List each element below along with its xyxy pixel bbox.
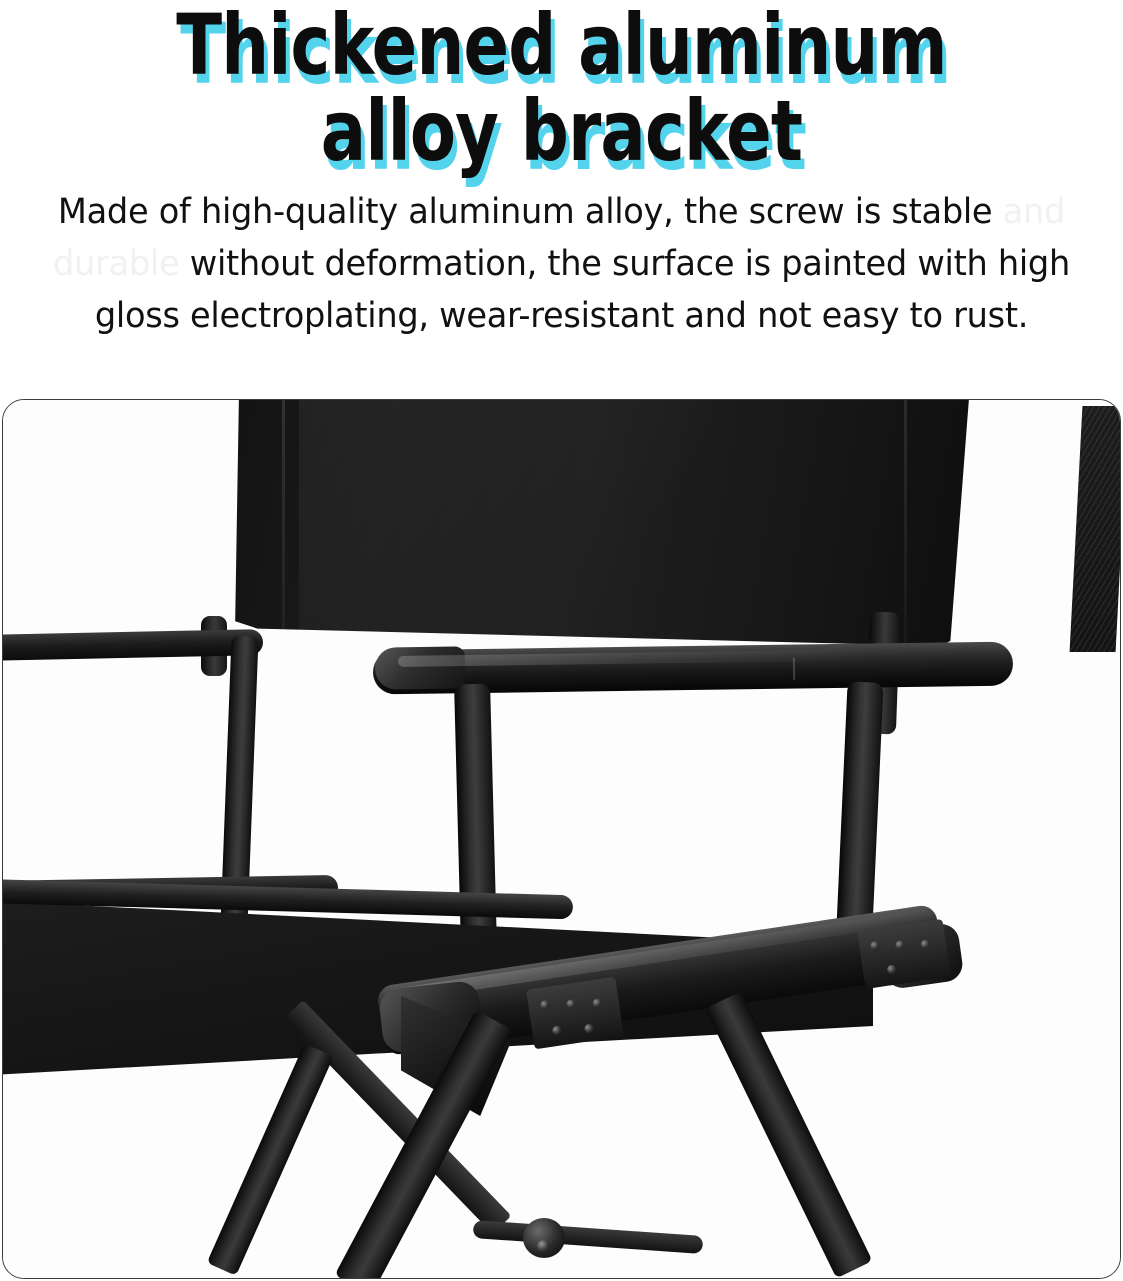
- headline-line-1: Thickened aluminum: [112, 0, 1010, 88]
- rivet-icon: [920, 939, 930, 949]
- rivet-icon: [592, 998, 602, 1008]
- x-folding-leg-far: [207, 1043, 334, 1275]
- rivet-icon: [887, 964, 897, 974]
- product-feature-page: Thickened aluminum alloy bracket Made of…: [0, 0, 1123, 1281]
- product-description: Made of high-quality aluminum alloy, the…: [22, 186, 1100, 342]
- backrest-sheen: [299, 399, 709, 646]
- pivot-bolt-icon: [537, 1240, 550, 1253]
- armrest-end-cap: [375, 646, 466, 689]
- rivet-icon: [584, 1023, 594, 1033]
- backrest-seam-right: [904, 399, 907, 646]
- backrest-twill-texture: [1070, 406, 1121, 652]
- description-segment-1: Made of high-quality aluminum alloy, the…: [58, 192, 1003, 232]
- page-title: Thickened aluminum alloy bracket: [0, 0, 1123, 174]
- product-photo-stage: [3, 400, 1120, 1278]
- description-segment-2: without deformation, the surface is pain…: [95, 244, 1070, 336]
- rivet-icon: [552, 1025, 562, 1035]
- backrest-seam-left: [282, 399, 285, 646]
- rivet-icon: [566, 999, 576, 1009]
- x-folding-leg-back: [705, 991, 872, 1278]
- armrest-seam-line: [793, 658, 795, 680]
- pivot-bar: [473, 1220, 704, 1254]
- rivet-icon: [540, 1000, 550, 1010]
- product-photo: [2, 399, 1121, 1279]
- rivet-icon: [870, 941, 880, 951]
- headline-line-2: alloy bracket: [112, 88, 1010, 174]
- rivet-icon: [895, 940, 905, 950]
- canvas-backrest: [224, 399, 969, 646]
